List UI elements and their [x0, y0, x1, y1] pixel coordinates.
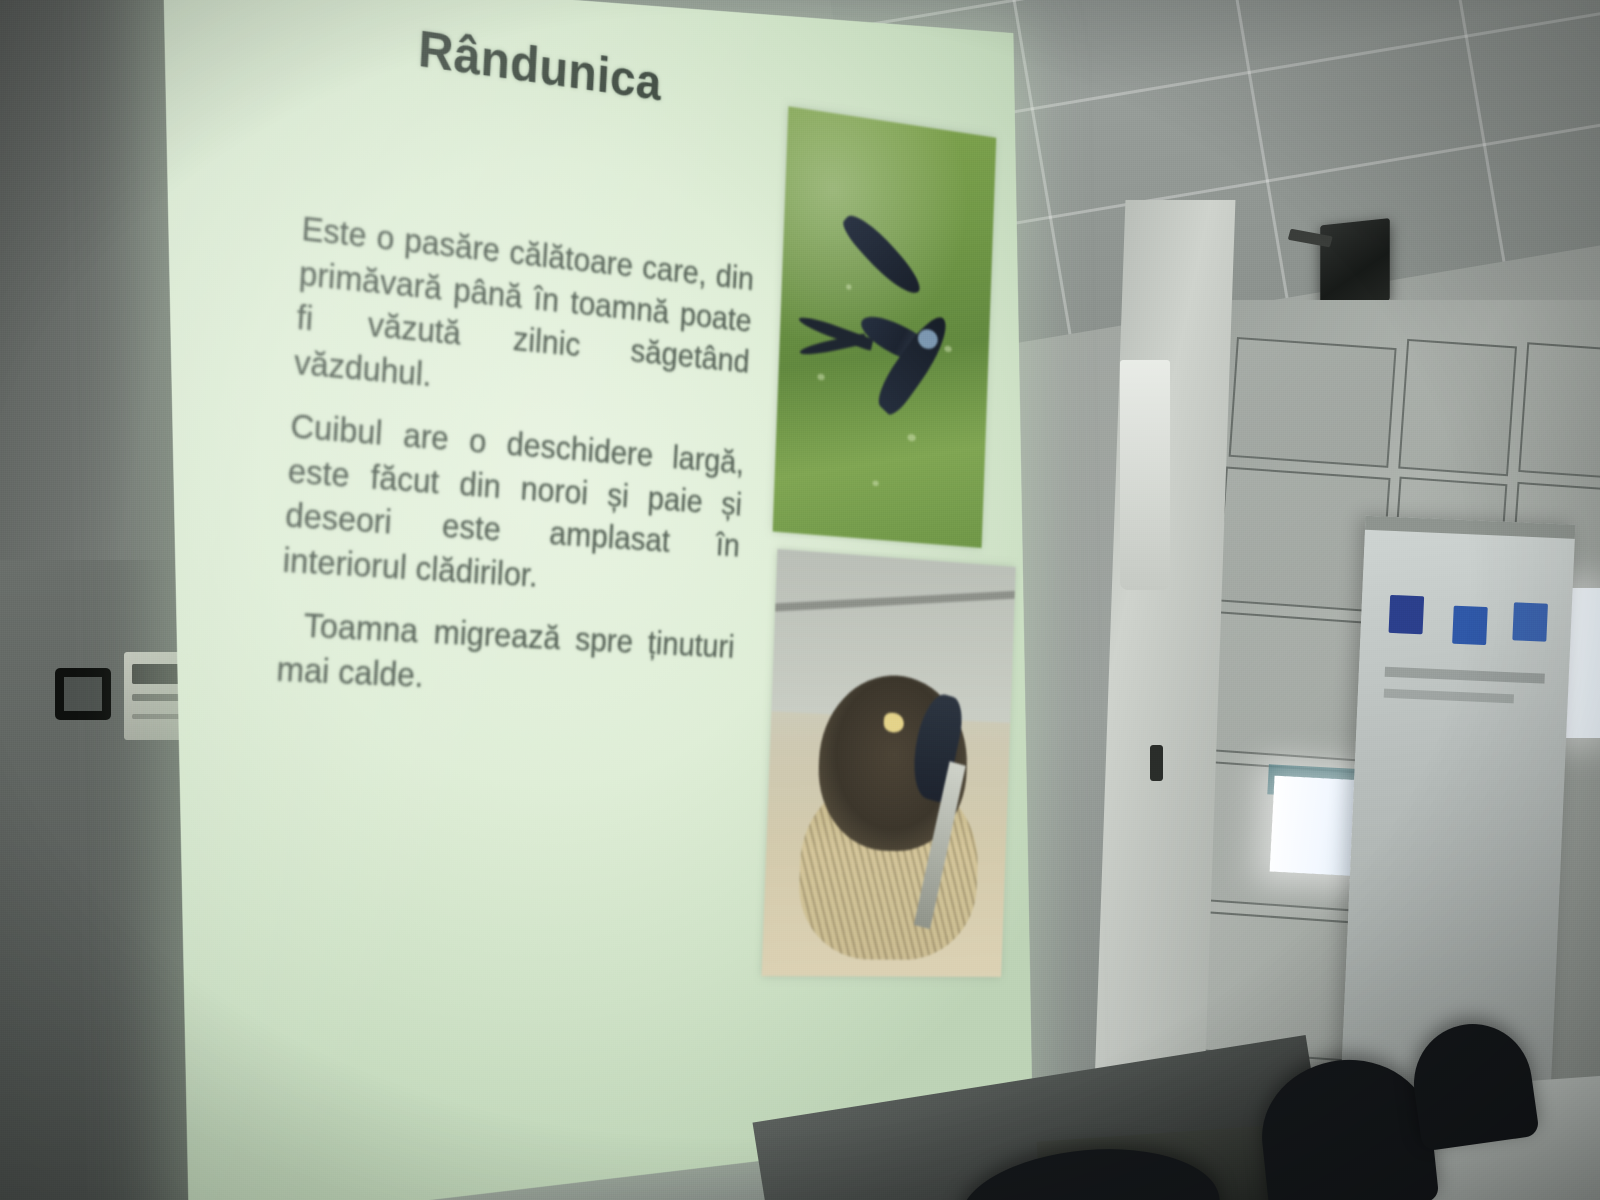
banner-logo-2	[1452, 606, 1488, 645]
column-light-strip	[1120, 360, 1170, 590]
swallow-silhouette-icon	[798, 236, 968, 459]
slide-content: Rândunica Este o pasăre călătoare care, …	[163, 0, 1033, 1200]
slide-paragraph-3: Toamna migrează spre ținuturi mai calde.	[275, 602, 735, 710]
slide-paragraph-1: Este o pasăre călătoare care, din primăv…	[293, 207, 755, 425]
column-handle-icon	[1150, 745, 1163, 781]
ceiling-speaker-icon	[1320, 218, 1390, 308]
wall-switch-icon[interactable]	[55, 668, 111, 720]
banner-logo-1	[1389, 595, 1425, 634]
slide-title: Rândunica	[417, 19, 663, 112]
projection-screen: Rândunica Este o pasăre călătoare care, …	[163, 0, 1033, 1200]
banner-text-block-2	[1384, 689, 1514, 704]
photo-scene: Rândunica Este o pasăre călătoare care, …	[0, 0, 1600, 1200]
slide-image-swallow-nest	[762, 549, 1016, 977]
slide-paragraph-2: Cuibul are o deschidere largă, este făcu…	[282, 404, 746, 609]
slide-image-swallow-flying	[773, 106, 997, 548]
slide-body-text: Este o pasăre călătoare care, din primăv…	[274, 207, 755, 729]
banner-text-block	[1385, 667, 1545, 684]
banner-logo-3	[1512, 602, 1548, 641]
